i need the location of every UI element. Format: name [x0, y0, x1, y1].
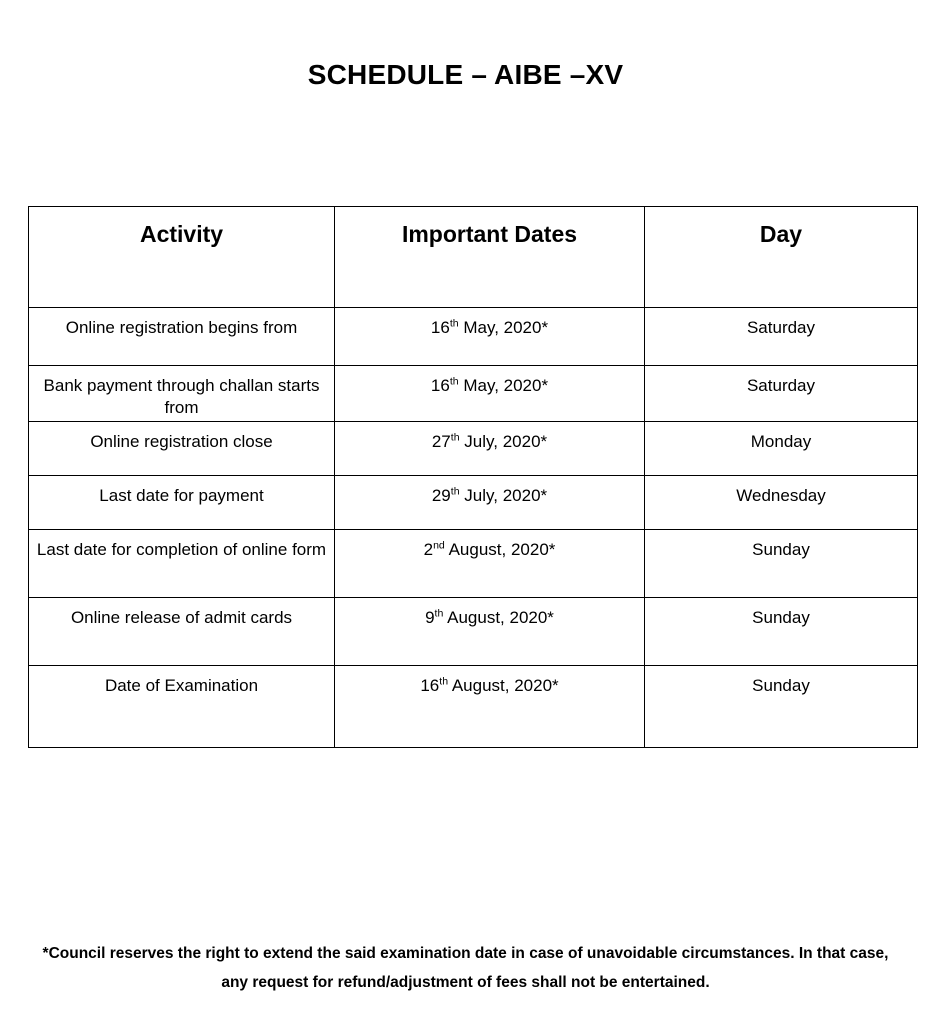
date-number: 29 [432, 486, 451, 505]
date-ordinal: th [439, 675, 448, 687]
cell-day: Monday [645, 422, 918, 476]
date-number: 16 [431, 376, 450, 395]
date-ordinal: th [451, 485, 460, 497]
cell-activity: Online registration close [29, 422, 335, 476]
cell-activity: Bank payment through challan starts from [29, 366, 335, 422]
date-ordinal: th [450, 317, 459, 329]
cell-date: 16th May, 2020* [335, 308, 645, 366]
date-rest: July, 2020* [460, 486, 548, 505]
date-number: 9 [425, 608, 434, 627]
date-ordinal: th [450, 375, 459, 387]
cell-date: 27th July, 2020* [335, 422, 645, 476]
cell-activity: Last date for completion of online form [29, 530, 335, 598]
page-title: SCHEDULE – AIBE –XV [0, 58, 931, 92]
date-number: 27 [432, 432, 451, 451]
cell-activity: Online release of admit cards [29, 598, 335, 666]
date-rest: August, 2020* [448, 676, 559, 695]
column-header-day: Day [645, 207, 918, 308]
cell-date: 2nd August, 2020* [335, 530, 645, 598]
cell-day: Saturday [645, 308, 918, 366]
table-row: Date of Examination 16th August, 2020* S… [29, 666, 918, 748]
cell-day: Sunday [645, 666, 918, 748]
cell-activity: Date of Examination [29, 666, 335, 748]
table-row: Online registration close 27th July, 202… [29, 422, 918, 476]
date-number: 16 [420, 676, 439, 695]
table-header-row: Activity Important Dates Day [29, 207, 918, 308]
cell-date: 9th August, 2020* [335, 598, 645, 666]
date-ordinal: nd [433, 539, 445, 551]
cell-date: 29th July, 2020* [335, 476, 645, 530]
cell-date: 16th August, 2020* [335, 666, 645, 748]
cell-activity: Online registration begins from [29, 308, 335, 366]
date-rest: August, 2020* [443, 608, 554, 627]
date-number: 2 [424, 540, 433, 559]
document-page: SCHEDULE – AIBE –XV Activity Important D… [0, 0, 931, 1031]
table-body: Online registration begins from 16th May… [29, 308, 918, 748]
date-rest: August, 2020* [445, 540, 556, 559]
table-row: Online release of admit cards 9th August… [29, 598, 918, 666]
footnote: *Council reserves the right to extend th… [40, 940, 891, 997]
cell-day: Wednesday [645, 476, 918, 530]
date-rest: May, 2020* [459, 318, 548, 337]
column-header-activity: Activity [29, 207, 335, 308]
cell-date: 16th May, 2020* [335, 366, 645, 422]
cell-day: Saturday [645, 366, 918, 422]
date-ordinal: th [451, 431, 460, 443]
table-row: Online registration begins from 16th May… [29, 308, 918, 366]
table-row: Bank payment through challan starts from… [29, 366, 918, 422]
date-rest: July, 2020* [460, 432, 548, 451]
cell-activity: Last date for payment [29, 476, 335, 530]
date-ordinal: th [435, 607, 444, 619]
table-row: Last date for completion of online form … [29, 530, 918, 598]
footnote-line-1: *Council reserves the right to extend th… [43, 945, 813, 962]
table-row: Last date for payment 29th July, 2020* W… [29, 476, 918, 530]
date-number: 16 [431, 318, 450, 337]
cell-day: Sunday [645, 530, 918, 598]
cell-day: Sunday [645, 598, 918, 666]
schedule-table: Activity Important Dates Day Online regi… [28, 206, 918, 748]
date-rest: May, 2020* [459, 376, 548, 395]
column-header-important-dates: Important Dates [335, 207, 645, 308]
